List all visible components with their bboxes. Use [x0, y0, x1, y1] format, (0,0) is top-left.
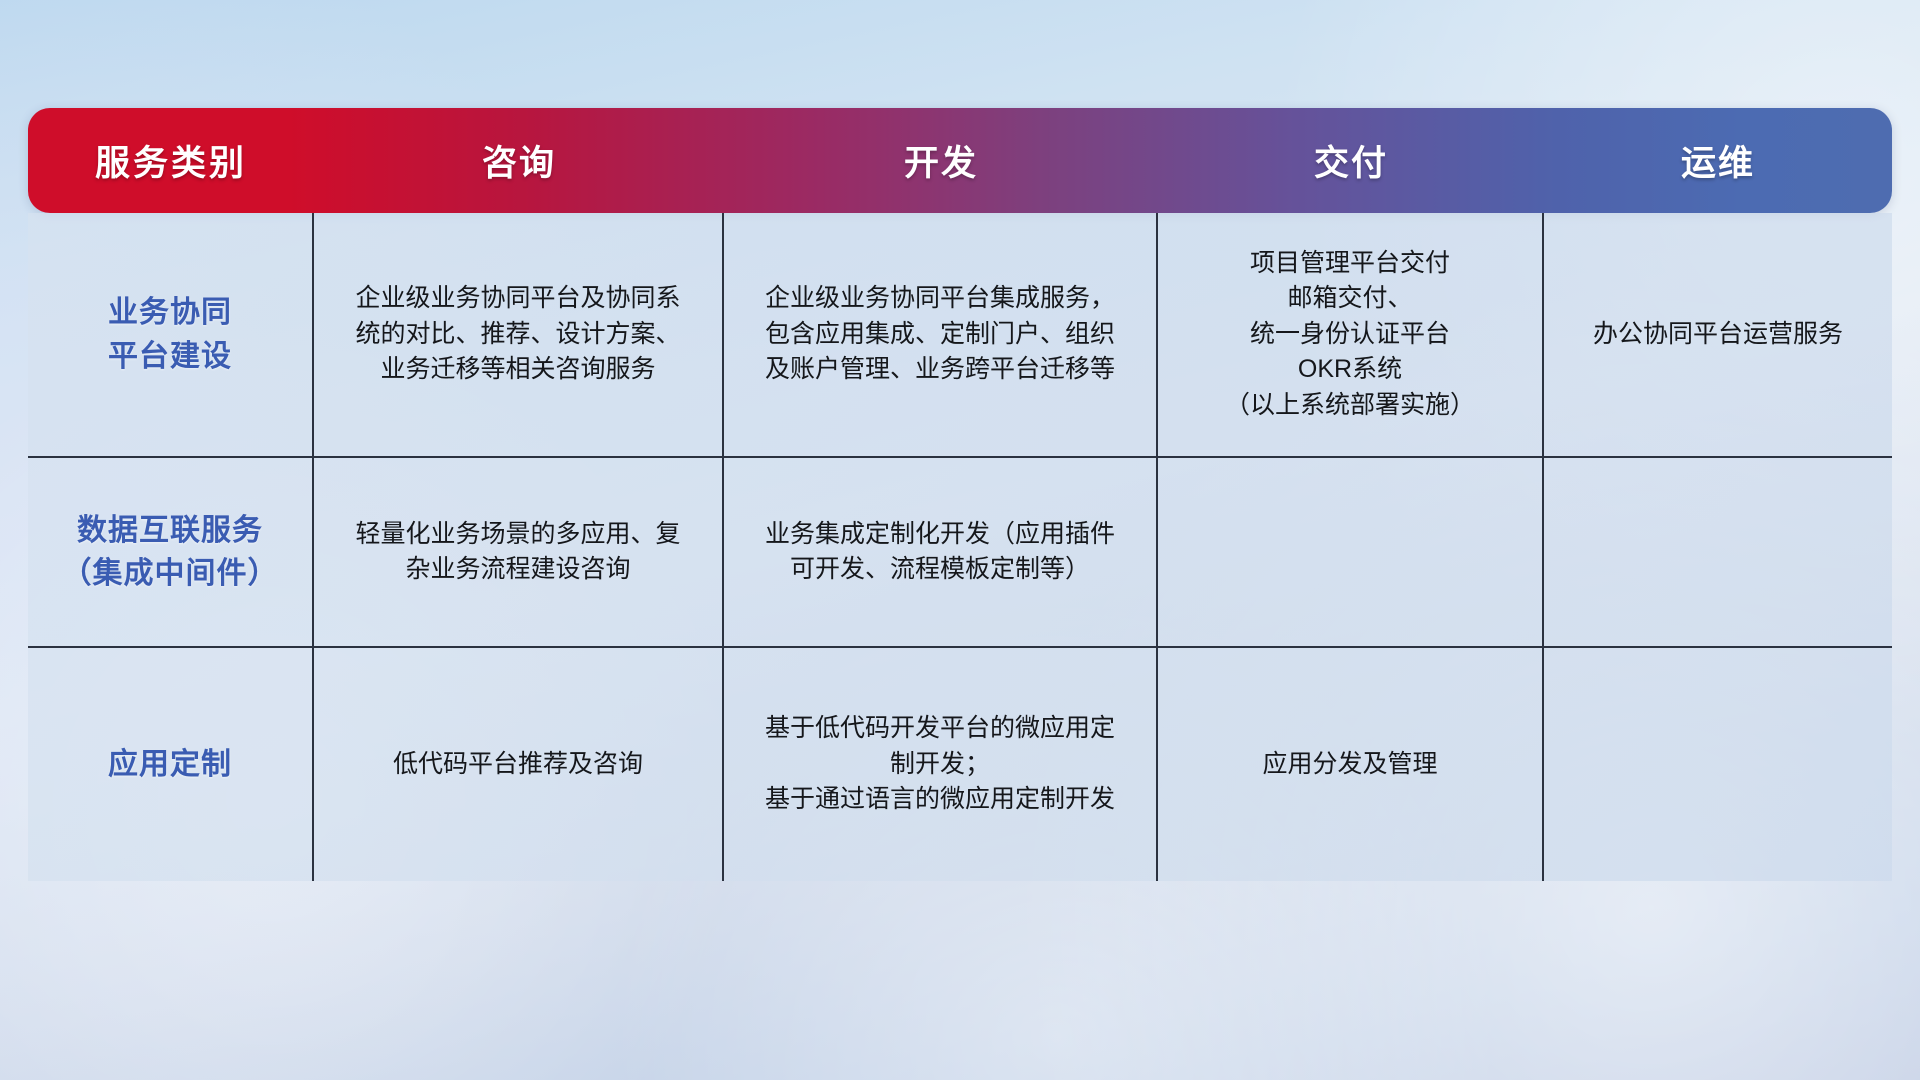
column-header-delivery: 交付	[1158, 135, 1544, 186]
cell-text: 企业级业务协同平台集成服务， 包含应用集成、定制门户、组织 及账户管理、业务跨平…	[765, 281, 1115, 388]
cell-operations	[1544, 648, 1892, 881]
column-header-development: 开发	[724, 135, 1158, 186]
cell-text: 办公协同平台运营服务	[1593, 317, 1843, 353]
table-row: 业务协同 平台建设 企业级业务协同平台及协同系 统的对比、推荐、设计方案、 业务…	[28, 213, 1892, 458]
slide-canvas: 服务类别 咨询 开发 交付 运维 业务协同 平台建设 企业级业务协同平台及协同系…	[0, 0, 1920, 1080]
row-category-label: 应用定制	[108, 743, 232, 787]
table-row: 应用定制 低代码平台推荐及咨询 基于低代码开发平台的微应用定 制开发； 基于通过…	[28, 648, 1892, 881]
table-header-row: 服务类别 咨询 开发 交付 运维	[28, 108, 1892, 213]
cell-text: 项目管理平台交付 邮箱交付、 统一身份认证平台 OKR系统 （以上系统部署实施）	[1225, 246, 1475, 424]
cell-delivery: 应用分发及管理	[1158, 648, 1544, 881]
row-category-label: 业务协同 平台建设	[108, 291, 232, 378]
cell-text: 应用分发及管理	[1262, 747, 1437, 783]
table-row: 数据互联服务 （集成中间件） 轻量化业务场景的多应用、复 杂业务流程建设咨询 业…	[28, 458, 1892, 648]
column-header-operations: 运维	[1544, 135, 1892, 186]
row-category-label-cell: 业务协同 平台建设	[28, 213, 314, 456]
cell-consulting: 低代码平台推荐及咨询	[314, 648, 724, 881]
cell-consulting: 轻量化业务场景的多应用、复 杂业务流程建设咨询	[314, 458, 724, 646]
cell-development: 基于低代码开发平台的微应用定 制开发； 基于通过语言的微应用定制开发	[724, 648, 1158, 881]
row-category-label-cell: 数据互联服务 （集成中间件）	[28, 458, 314, 646]
cell-text: 业务集成定制化开发（应用插件 可开发、流程模板定制等）	[765, 517, 1115, 588]
cell-development: 企业级业务协同平台集成服务， 包含应用集成、定制门户、组织 及账户管理、业务跨平…	[724, 213, 1158, 456]
table-body: 业务协同 平台建设 企业级业务协同平台及协同系 统的对比、推荐、设计方案、 业务…	[28, 213, 1892, 881]
row-category-label-cell: 应用定制	[28, 648, 314, 881]
column-header-service-category: 服务类别	[28, 135, 314, 186]
column-header-consulting: 咨询	[314, 135, 724, 186]
cell-text: 低代码平台推荐及咨询	[393, 747, 643, 783]
cell-text: 基于低代码开发平台的微应用定 制开发； 基于通过语言的微应用定制开发	[765, 711, 1115, 818]
cell-text: 轻量化业务场景的多应用、复 杂业务流程建设咨询	[355, 517, 680, 588]
cell-operations: 办公协同平台运营服务	[1544, 213, 1892, 456]
cell-delivery	[1158, 458, 1544, 646]
cell-operations	[1544, 458, 1892, 646]
row-category-label: 数据互联服务 （集成中间件）	[62, 509, 279, 596]
cell-development: 业务集成定制化开发（应用插件 可开发、流程模板定制等）	[724, 458, 1158, 646]
cell-text: 企业级业务协同平台及协同系 统的对比、推荐、设计方案、 业务迁移等相关咨询服务	[355, 281, 680, 388]
cell-consulting: 企业级业务协同平台及协同系 统的对比、推荐、设计方案、 业务迁移等相关咨询服务	[314, 213, 724, 456]
service-matrix-table: 服务类别 咨询 开发 交付 运维 业务协同 平台建设 企业级业务协同平台及协同系…	[28, 108, 1892, 881]
cell-delivery: 项目管理平台交付 邮箱交付、 统一身份认证平台 OKR系统 （以上系统部署实施）	[1158, 213, 1544, 456]
